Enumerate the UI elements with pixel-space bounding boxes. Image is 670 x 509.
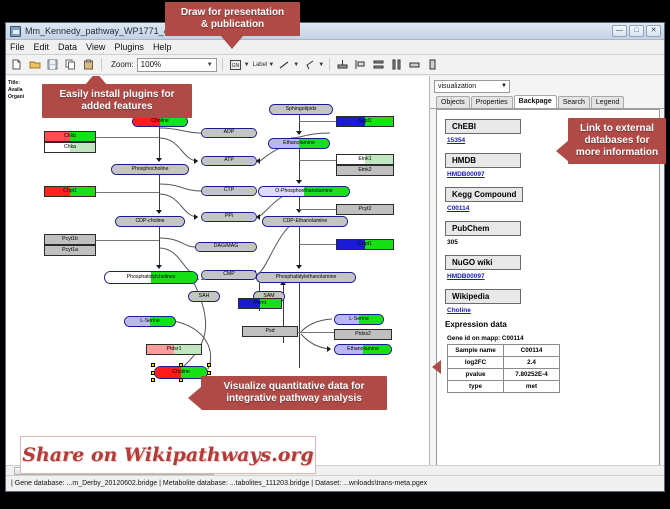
node-label: Pcyt1b: [62, 237, 78, 242]
node-label: CMP: [223, 272, 235, 277]
node-label: Phosphatidylethanolamine: [276, 275, 337, 280]
connector: [299, 244, 336, 245]
screenshot-root: Mm_Kennedy_pathway_WP1771_45176.gpml — □…: [0, 0, 670, 509]
zoom-combobox[interactable]: 100% ▼: [137, 58, 217, 72]
metabolite-adp[interactable]: ADP: [201, 128, 257, 138]
callout-plugins: Easily install plugins for added feature…: [42, 84, 192, 118]
chevron-down-icon: ▼: [207, 62, 213, 68]
table-row: typemet: [448, 381, 560, 393]
gene-pcyt2[interactable]: Pcyt2: [336, 204, 394, 215]
gene-chpt1[interactable]: Chpt1: [44, 186, 96, 197]
backpage-section-wikipedia: WikipediaCholine: [445, 286, 659, 314]
chevron-down-icon: ▼: [268, 62, 274, 68]
node-label: Chka: [64, 145, 76, 150]
line-tool[interactable]: ▼: [277, 57, 299, 72]
node-right-half: [229, 213, 256, 221]
callout-draw-arrow: [221, 36, 243, 49]
connector: [299, 227, 300, 268]
menu-data[interactable]: Data: [58, 42, 77, 52]
side-panel-tabs: Objects Properties Backpage Search Legen…: [430, 94, 664, 109]
tab-legend[interactable]: Legend: [591, 96, 624, 108]
selection-handle[interactable]: [151, 371, 155, 375]
metabolite-phosphocholine[interactable]: Phosphocholine: [111, 164, 189, 175]
node-label: Choline: [172, 370, 190, 375]
gene-pemt[interactable]: Pemt: [238, 298, 282, 309]
metabolite-sah[interactable]: SAH: [188, 291, 220, 302]
metabolite-cdp-choline[interactable]: CDP-choline: [115, 216, 185, 227]
metabolite-l-serine-right[interactable]: L-Serine: [334, 314, 384, 325]
node-label: ADP: [224, 130, 235, 135]
node-label: O-Phosphoethanolamine: [275, 189, 332, 194]
callout-share-text: Share on Wikipathways.org: [22, 444, 313, 466]
menu-edit[interactable]: Edit: [34, 42, 50, 52]
node-label: Sgpl1: [358, 119, 371, 124]
gene-id-label: Gene id on mapp: C00114: [447, 335, 659, 342]
table-row: Sample nameC00114: [448, 345, 560, 357]
backpage-value: 305: [447, 239, 659, 246]
statusbar: | Gene database: ...m_Derby_20120602.bri…: [6, 475, 664, 491]
paste-icon[interactable]: [81, 57, 96, 72]
arrow-icon: [296, 131, 302, 135]
table-cell-key: type: [448, 381, 504, 393]
table-row: log2FC2.4: [448, 357, 560, 369]
metabolite-l-serine-left[interactable]: L-Serine: [124, 316, 176, 327]
connector: [159, 175, 160, 212]
node-label: Pemt: [254, 301, 266, 306]
arrow-icon: [156, 210, 162, 214]
arrow-icon: [156, 265, 162, 269]
new-file-icon[interactable]: [9, 57, 24, 72]
selection-handle[interactable]: [179, 378, 183, 382]
callout-plugins-arrow: [85, 76, 107, 85]
selection-handle[interactable]: [151, 378, 155, 382]
gene-etnk1[interactable]: Etnk1: [336, 154, 394, 165]
backpage-section-header: ChEBI: [445, 119, 521, 134]
connector: [159, 227, 160, 268]
callout-links-line3: more information: [574, 147, 660, 159]
metabolite-dagmag[interactable]: DAG/MAG: [195, 242, 257, 252]
window-titlebar: Mm_Kennedy_pathway_WP1771_45176.gpml — □…: [6, 23, 664, 40]
pathvisio-window: Mm_Kennedy_pathway_WP1771_45176.gpml — □…: [5, 22, 665, 492]
toolbar: Zoom: 100% ▼ GN ▼ Label ▼ ▼: [6, 55, 664, 75]
gene-ptdss2[interactable]: Ptdss2: [334, 329, 392, 340]
callout-links-arrow: [556, 140, 569, 162]
close-button[interactable]: ✕: [646, 25, 661, 37]
arrow-icon: [296, 180, 302, 184]
callout-links: Link to external databases for more info…: [568, 118, 666, 164]
selection-handle[interactable]: [179, 363, 183, 367]
arrow-icon: [194, 158, 198, 164]
connector: [299, 121, 336, 122]
window-controls: — □ ✕: [612, 25, 664, 37]
backpage-external-link[interactable]: Choline: [447, 307, 659, 314]
menu-file[interactable]: File: [10, 42, 25, 52]
gene-cept1[interactable]: Cept1: [336, 239, 394, 250]
node-label: Cept1: [358, 242, 372, 247]
selection-handle[interactable]: [207, 371, 211, 375]
svg-text:GN: GN: [231, 63, 239, 69]
minimize-button[interactable]: —: [612, 25, 627, 37]
callout-visualize-line1: Visualize quantitative data for: [207, 381, 381, 393]
callout-links-line1: Link to external: [574, 123, 660, 135]
node-label: DAG/MAG: [214, 244, 239, 249]
pathway-info-labels: Title: Availa Organi: [8, 80, 24, 101]
info-label-availability: Availa: [8, 87, 24, 94]
callout-draw-line2: & publication: [171, 19, 294, 31]
callout-visualize-arrow: [188, 387, 201, 409]
arrow-icon: [327, 346, 331, 352]
table-cell-key: pvalue: [448, 369, 504, 381]
zoom-label: Zoom:: [111, 60, 134, 69]
node-label: Sphingolipids: [286, 107, 317, 112]
label-tool[interactable]: Label ▼: [253, 62, 275, 68]
align-top-icon[interactable]: [335, 57, 350, 72]
arrow-icon: [194, 214, 198, 220]
datanode-tool[interactable]: GN ▼: [228, 57, 250, 72]
backpage-section-header: NuGO wiki: [445, 255, 521, 270]
label-tool-label: Label: [253, 62, 268, 68]
toolbar-separator: [222, 58, 223, 71]
backpage-section-header: HMDB: [445, 153, 521, 168]
gene-chka[interactable]: Chka: [44, 142, 96, 153]
main-area: Title: Availa Organi: [6, 76, 664, 475]
menu-help[interactable]: Help: [153, 42, 172, 52]
tab-backpage[interactable]: Backpage: [514, 95, 557, 108]
backpage-external-link[interactable]: C00114: [447, 205, 659, 212]
node-label: SAM: [263, 294, 274, 299]
datanode-icon: GN: [228, 57, 243, 72]
distribute-vertical-icon[interactable]: [371, 57, 386, 72]
toolbar-separator: [329, 58, 330, 71]
table-cell-value: met: [504, 381, 560, 393]
same-height-icon[interactable]: [425, 57, 440, 72]
callout-visualize-line2: integrative pathway analysis: [207, 393, 381, 405]
selection-handle[interactable]: [151, 363, 155, 367]
node-label: Chpt1: [63, 189, 77, 194]
info-label-organism: Organi: [8, 94, 24, 101]
zoom-value: 100%: [141, 60, 161, 69]
callout-draw-line1: Draw for presentation: [171, 7, 294, 19]
node-label: CTP: [224, 188, 234, 193]
backpage-section-pubchem: PubChem305: [445, 218, 659, 246]
metabolite-ptdethanol[interactable]: Phosphatidylethanolamine: [256, 272, 356, 283]
node-label: Choline: [151, 119, 169, 124]
callout-plugins-line2: added features: [48, 101, 186, 113]
info-label-title: Title:: [8, 80, 24, 87]
backpage-section-header: Wikipedia: [445, 289, 521, 304]
node-label: Ethanolamine: [283, 141, 315, 146]
connector: [159, 127, 160, 160]
callout-links-line2: databases for: [574, 135, 660, 147]
node-label: Ptdsr1: [167, 347, 182, 352]
line-icon: [277, 57, 292, 72]
chevron-down-icon: ▼: [293, 62, 299, 68]
node-label: Etnk2: [358, 168, 371, 173]
backpage-section-header: Kegg Compound: [445, 187, 523, 202]
gene-sgpl1[interactable]: Sgpl1: [336, 116, 394, 127]
visualization-dropdown[interactable]: visualization ▼: [434, 80, 510, 93]
node-label: SAH: [199, 294, 210, 299]
connector: [96, 240, 159, 241]
same-width-icon[interactable]: [407, 57, 422, 72]
node-label: L-Serine: [140, 319, 160, 324]
backpage-section-kegg-compound: Kegg CompoundC00114: [445, 184, 659, 212]
interaction-tool[interactable]: ▼: [302, 57, 324, 72]
arrow-icon: [156, 158, 162, 162]
node-label: ATP: [224, 158, 234, 163]
tab-search[interactable]: Search: [558, 96, 590, 108]
gene-ptdsr1[interactable]: Ptdsr1: [146, 344, 202, 355]
statusbar-text: | Gene database: ...m_Derby_20120602.bri…: [11, 480, 427, 487]
metabolite-sphingolipids[interactable]: Sphingolipids: [269, 104, 333, 115]
connector: [299, 283, 300, 368]
gene-psd[interactable]: Psd: [242, 326, 298, 337]
node-label: Ethanolamine: [347, 347, 379, 352]
connector: [96, 192, 159, 193]
metabolite-atp[interactable]: ATP: [201, 156, 257, 166]
node-label: Pcyt2: [359, 207, 372, 212]
metabolite-ppi[interactable]: PPi: [201, 212, 257, 222]
gene-pcyt1a[interactable]: Pcyt1a: [44, 245, 96, 256]
gene-pcyt1b[interactable]: Pcyt1b: [44, 234, 96, 245]
gene-etnk2[interactable]: Etnk2: [336, 165, 394, 176]
backpage-section-nugo-wiki: NuGO wikiHMDB00097: [445, 252, 659, 280]
copy-icon[interactable]: [63, 57, 78, 72]
visualization-value: visualization: [438, 83, 476, 90]
backpage-external-link[interactable]: HMDB00097: [447, 273, 659, 280]
node-label: Chkb: [64, 134, 76, 139]
connector: [96, 137, 159, 138]
maximize-button[interactable]: □: [629, 25, 644, 37]
node-label: L-Serine: [349, 317, 369, 322]
table-cell-value: 2.4: [504, 357, 560, 369]
node-label: Pcyt1a: [62, 248, 78, 253]
table-cell-value: C00114: [504, 345, 560, 357]
table-cell-key: Sample name: [448, 345, 504, 357]
selection-handle[interactable]: [207, 363, 211, 367]
distribute-horizontal-icon[interactable]: [389, 57, 404, 72]
connector: [299, 160, 336, 161]
visualization-row: visualization ▼: [430, 76, 664, 94]
backpage-section-header: PubChem: [445, 221, 521, 236]
callout-plugins-line1: Easily install plugins for: [48, 89, 186, 101]
expression-data-table: Sample nameC00114log2FC2.4pvalue7.80252E…: [447, 344, 560, 393]
chevron-down-icon: ▼: [501, 83, 507, 89]
node-label: Ptdss2: [355, 332, 371, 337]
align-left-icon[interactable]: [353, 57, 368, 72]
node-label: Phosphocholine: [132, 167, 169, 172]
chevron-down-icon: ▼: [318, 62, 324, 68]
connector: [299, 149, 300, 182]
callout-share: Share on Wikipathways.org: [20, 436, 316, 474]
metabolite-cmp[interactable]: CMP: [201, 270, 257, 280]
save-icon[interactable]: [45, 57, 60, 72]
node-label: Etnk1: [358, 157, 371, 162]
app-icon: [10, 26, 21, 37]
connector: [298, 332, 334, 333]
menu-plugins[interactable]: Plugins: [114, 42, 144, 52]
table-row: pvalue7.80252E-4: [448, 369, 560, 381]
metabolite-ptdcholines[interactable]: Phosphatidylcholines: [104, 271, 198, 284]
table-cell-value: 7.80252E-4: [504, 369, 560, 381]
metabolite-o-phosphoeth[interactable]: O-Phosphoethanolamine: [258, 186, 350, 197]
canvas-surface[interactable]: Title: Availa Organi: [6, 76, 429, 475]
callout-draw: Draw for presentation & publication: [165, 2, 300, 36]
metabolite-ethanolamine-2[interactable]: Ethanolamine: [334, 344, 392, 355]
callout-visualize: Visualize quantitative data for integrat…: [201, 376, 387, 410]
node-label: Phosphatidylcholines: [127, 275, 176, 280]
open-folder-icon[interactable]: [27, 57, 42, 72]
interaction-icon: [302, 57, 317, 72]
node-label: Psd: [266, 329, 275, 334]
tab-properties[interactable]: Properties: [471, 96, 513, 108]
pathway-canvas[interactable]: Title: Availa Organi: [6, 76, 430, 475]
metabolite-ctp[interactable]: CTP: [201, 186, 257, 196]
backpage-external-link[interactable]: HMDB00097: [447, 171, 659, 178]
node-label: CDP-Ethanolamine: [283, 219, 327, 224]
chevron-down-icon: ▼: [244, 62, 250, 68]
node-label: CDP-choline: [135, 219, 164, 224]
menu-view[interactable]: View: [86, 42, 105, 52]
expression-data-title: Expression data: [445, 320, 659, 329]
menubar: File Edit Data View Plugins Help: [6, 40, 664, 55]
gene-chkb[interactable]: Chkb: [44, 131, 96, 142]
metabolite-ethanolamine-1[interactable]: Ethanolamine: [268, 138, 330, 149]
callout-expression-arrow: [432, 360, 441, 374]
metabolite-cdp-eth[interactable]: CDP-Ethanolamine: [262, 216, 348, 227]
connector: [299, 209, 336, 210]
arrow-icon: [296, 265, 302, 269]
table-cell-key: log2FC: [448, 357, 504, 369]
toolbar-separator: [101, 58, 102, 71]
tab-objects[interactable]: Objects: [436, 96, 470, 108]
node-label: PPi: [225, 214, 233, 219]
